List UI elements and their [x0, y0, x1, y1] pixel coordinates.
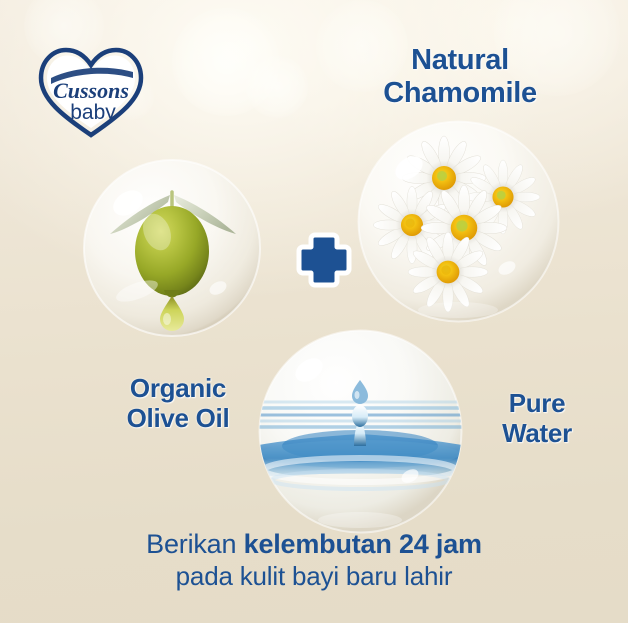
label-line: Pure	[452, 389, 622, 419]
label-line: Natural	[340, 44, 580, 77]
label-line: Organic	[68, 374, 288, 404]
bokeh-circle	[246, 56, 308, 118]
tagline-line-1: Berikan kelembutan 24 jam	[0, 528, 628, 561]
label-line: Chamomile	[340, 77, 580, 110]
logo-wordmark-baby: baby	[70, 101, 116, 124]
label-natural-chamomile: Natural Chamomile	[340, 44, 580, 110]
bokeh-circle	[172, 8, 280, 116]
label-pure-water: Pure Water	[452, 389, 622, 448]
tagline-normal-text: Berikan	[146, 529, 243, 559]
cussons-baby-logo: Cussons baby	[33, 42, 149, 140]
label-organic-olive-oil: Organic Olive Oil	[68, 374, 288, 433]
olive-oil-bubble	[82, 158, 262, 338]
product-promo-poster: Cussons baby	[0, 0, 628, 628]
chamomile-bubble	[357, 120, 560, 323]
bottom-edge-strip	[0, 623, 628, 628]
pure-water-bubble	[257, 328, 464, 535]
tagline: Berikan kelembutan 24 jam pada kulit bay…	[0, 528, 628, 593]
tagline-strong-text: kelembutan 24 jam	[244, 529, 482, 559]
label-line: Olive Oil	[68, 404, 288, 434]
label-line: Water	[452, 419, 622, 449]
tagline-line-2: pada kulit bayi baru lahir	[0, 561, 628, 593]
plus-icon	[293, 229, 355, 291]
logo-wordmark-cussons: Cussons	[53, 78, 129, 103]
